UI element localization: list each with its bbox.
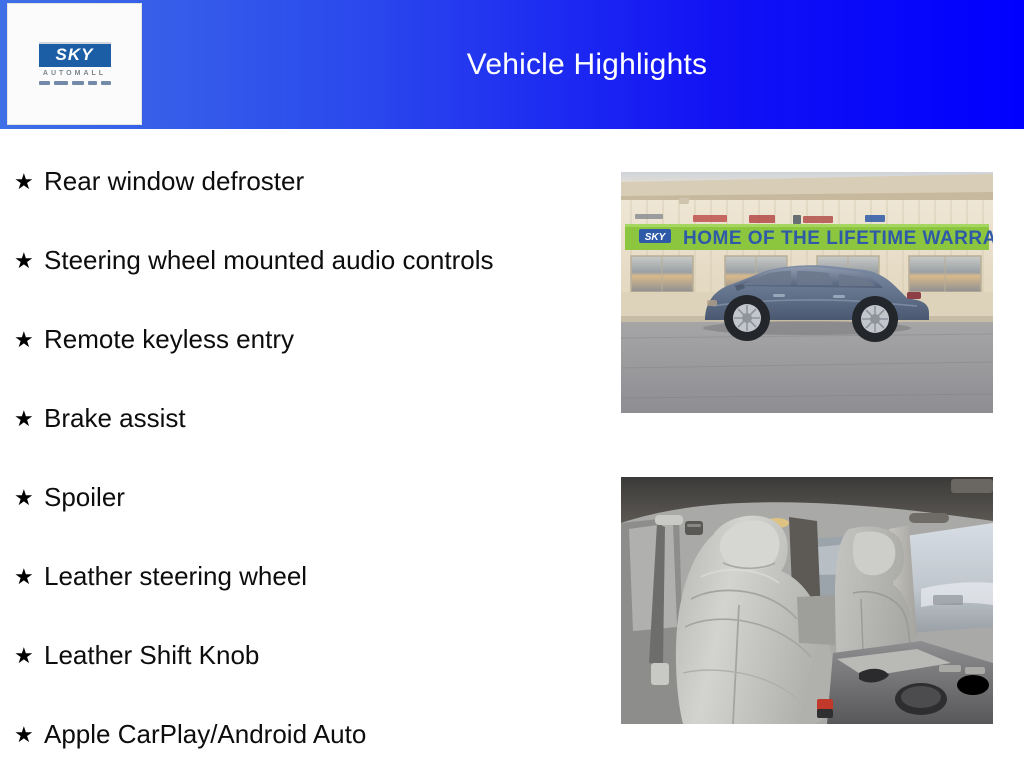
svg-text:SKY: SKY [645, 232, 667, 243]
page-header: SKY AUTOMALL Vehicle Highlights [0, 0, 1024, 129]
star-icon: ★ [14, 408, 44, 430]
list-item: ★ Brake assist [0, 379, 600, 458]
list-item: ★ Steering wheel mounted audio controls [0, 221, 600, 300]
list-item: ★ Rear window defroster [0, 142, 600, 221]
list-item-label: Brake assist [44, 404, 186, 433]
list-item-label: Leather steering wheel [44, 562, 307, 591]
interior-photo: Front seats with light gray leather upho… [621, 477, 993, 724]
brand-mark-2-icon [54, 81, 68, 85]
list-item-label: Leather Shift Knob [44, 641, 259, 670]
list-item-label: Remote keyless entry [44, 325, 294, 354]
dealer-logo: SKY AUTOMALL [7, 3, 142, 125]
list-item-label: Steering wheel mounted audio controls [44, 246, 494, 275]
star-icon: ★ [14, 487, 44, 509]
star-icon: ★ [14, 724, 44, 746]
list-item-label: Spoiler [44, 483, 125, 512]
brand-mark-3-icon [72, 81, 84, 85]
list-item: ★ Leather steering wheel [0, 537, 600, 616]
brand-mark-5-icon [101, 81, 111, 85]
list-item: ★ Leather Shift Knob [0, 616, 600, 695]
list-item-label: Apple CarPlay/Android Auto [44, 720, 366, 749]
exterior-photo: SKY HOME OF THE LIFETIME WARRANTY [621, 172, 993, 413]
interior-photo-graphic [621, 477, 993, 724]
brand-mark-1-icon [39, 81, 50, 85]
svg-text:HOME OF THE LIFETIME WARRANTY: HOME OF THE LIFETIME WARRANTY [683, 228, 993, 249]
exterior-photo-graphic: SKY HOME OF THE LIFETIME WARRANTY [621, 172, 993, 413]
automall-logo-text: AUTOMALL [43, 70, 106, 77]
star-icon: ★ [14, 250, 44, 272]
list-item: ★ Apple CarPlay/Android Auto [0, 695, 600, 774]
brand-mark-4-icon [88, 81, 97, 85]
list-item: ★ Remote keyless entry [0, 300, 600, 379]
brand-strip-icon [39, 81, 111, 85]
page-title: Vehicle Highlights [160, 0, 1014, 129]
logo-inner: SKY AUTOMALL [36, 44, 114, 85]
star-icon: ★ [14, 645, 44, 667]
star-icon: ★ [14, 329, 44, 351]
sky-logo-mark: SKY [39, 44, 111, 67]
list-item: ★ Spoiler [0, 458, 600, 537]
vehicle-highlights-list: ★ Rear window defroster ★ Steering wheel… [0, 142, 600, 774]
star-icon: ★ [14, 171, 44, 193]
star-icon: ★ [14, 566, 44, 588]
list-item-label: Rear window defroster [44, 167, 304, 196]
